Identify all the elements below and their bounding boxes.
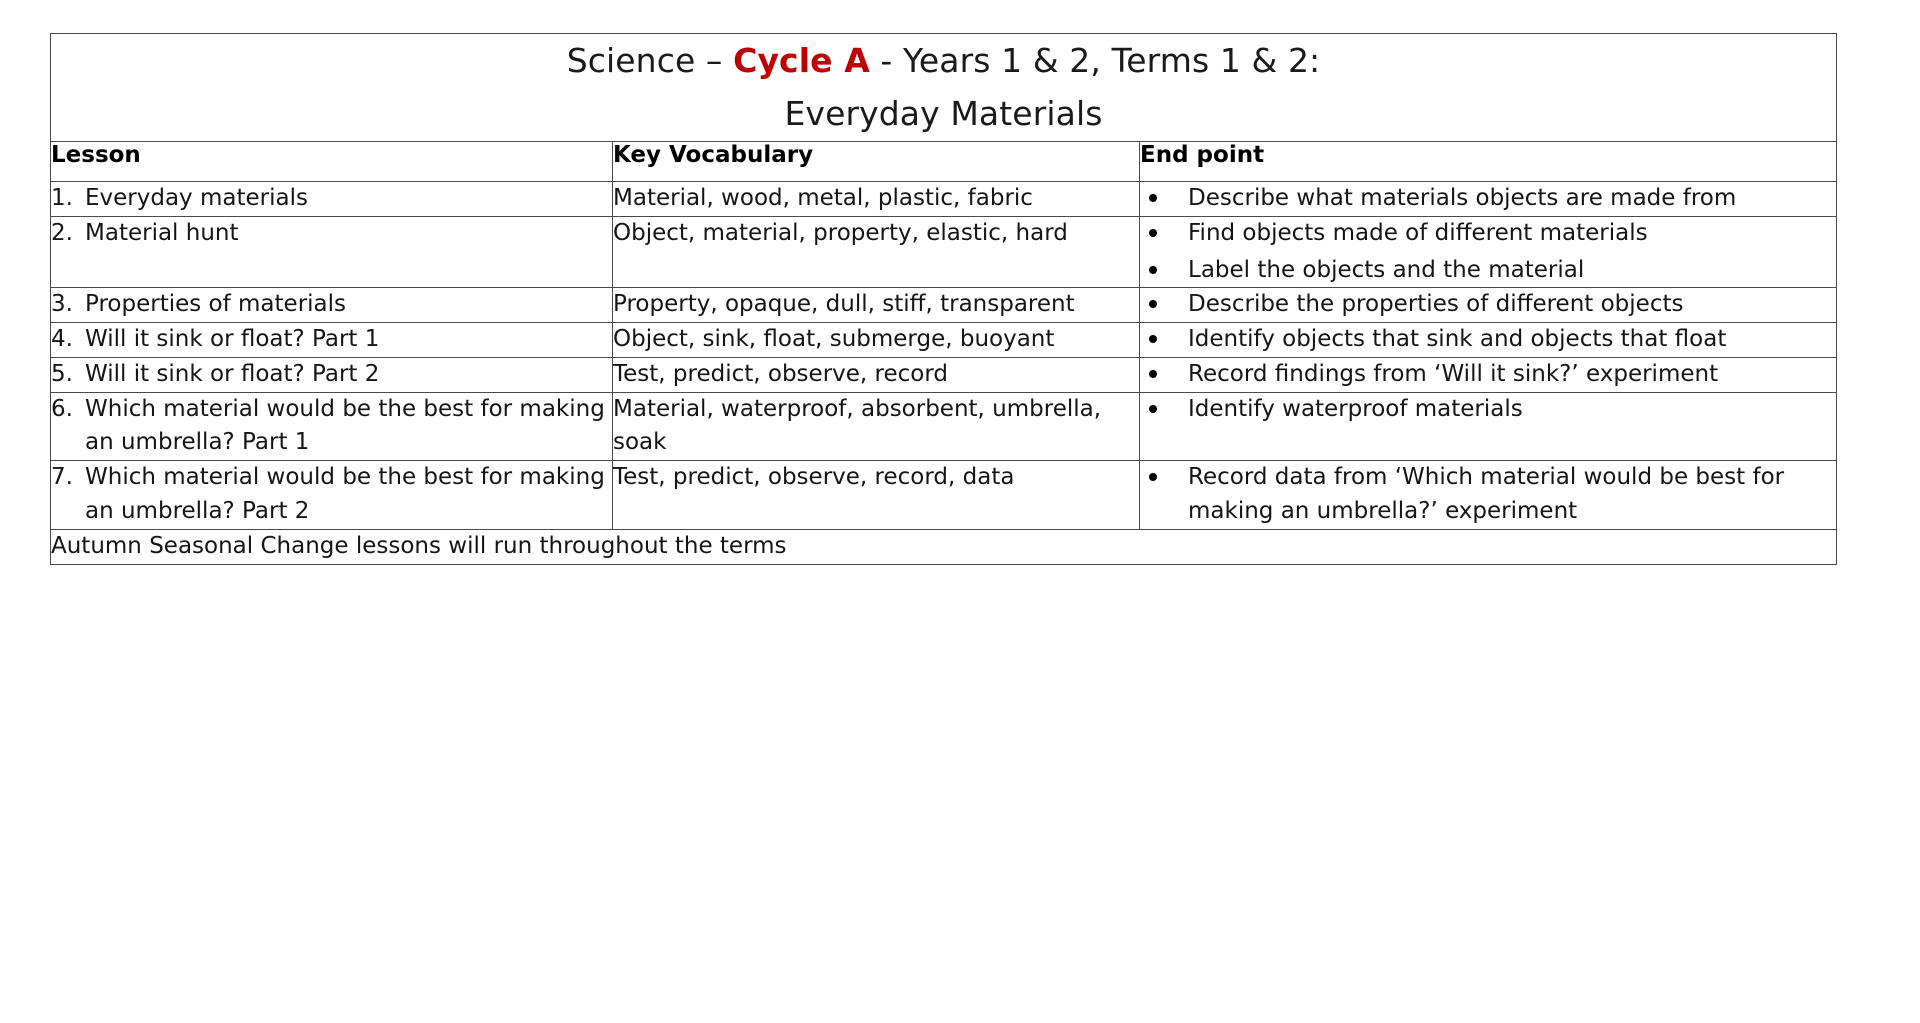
lesson-cell: 4. Will it sink or float? Part 1 (51, 323, 613, 358)
endpoint-cell: Describe the properties of different obj… (1140, 288, 1837, 323)
title-line-2: Everyday Materials (51, 87, 1836, 140)
endpoint-list: Identify objects that sink and objects t… (1140, 323, 1836, 357)
lesson-cell: 2. Material hunt (51, 216, 613, 288)
table-row: 5. Will it sink or float? Part 2 Test, p… (51, 357, 1837, 392)
endpoint-text: Describe what materials objects are made… (1188, 185, 1736, 211)
endpoint-text: Record data from ‘Which material would b… (1188, 464, 1784, 524)
vocabulary-cell: Material, wood, metal, plastic, fabric (613, 181, 1140, 216)
title-years-terms: - Years 1 & 2, Terms 1 & 2: (870, 41, 1320, 80)
lesson-cell: 7. Which material would be the best for … (51, 461, 613, 530)
lesson-title: Everyday materials (85, 182, 612, 216)
lesson-cell: 1. Everyday materials (51, 181, 613, 216)
list-item: Describe what materials objects are made… (1140, 182, 1836, 216)
endpoint-text: Describe the properties of different obj… (1188, 291, 1683, 317)
bullet-icon (1149, 335, 1157, 343)
table-row: 6. Which material would be the best for … (51, 392, 1837, 461)
title-cycle: Cycle A (733, 41, 870, 80)
endpoint-list: Describe the properties of different obj… (1140, 288, 1836, 322)
endpoint-text: Record findings from ‘Will it sink?’ exp… (1188, 361, 1718, 387)
lesson-number: 4. (51, 323, 85, 357)
list-item: Label the objects and the material (1140, 254, 1836, 288)
curriculum-overview-table: Science – Cycle A - Years 1 & 2, Terms 1… (50, 33, 1837, 565)
table-row: 4. Will it sink or float? Part 1 Object,… (51, 323, 1837, 358)
bullet-icon (1149, 370, 1157, 378)
endpoint-list: Describe what materials objects are made… (1140, 182, 1836, 216)
endpoint-text: Identify waterproof materials (1188, 396, 1523, 422)
lesson-cell: 6. Which material would be the best for … (51, 392, 613, 461)
column-header-key-vocabulary: Key Vocabulary (613, 141, 1140, 181)
lesson-cell: 3. Properties of materials (51, 288, 613, 323)
footer-note: Autumn Seasonal Change lessons will run … (51, 529, 1837, 564)
title-line-1: Science – Cycle A - Years 1 & 2, Terms 1… (51, 34, 1836, 87)
endpoint-cell: Find objects made of different materials… (1140, 216, 1837, 288)
table-row: 3. Properties of materials Property, opa… (51, 288, 1837, 323)
endpoint-cell: Record findings from ‘Will it sink?’ exp… (1140, 357, 1837, 392)
lesson-number: 1. (51, 182, 85, 216)
title-row: Science – Cycle A - Years 1 & 2, Terms 1… (51, 34, 1837, 142)
lesson-number: 3. (51, 288, 85, 322)
endpoint-text: Label the objects and the material (1188, 257, 1584, 283)
vocabulary-cell: Test, predict, observe, record (613, 357, 1140, 392)
endpoint-list: Record findings from ‘Will it sink?’ exp… (1140, 358, 1836, 392)
bullet-icon (1149, 405, 1157, 413)
endpoint-cell: Describe what materials objects are made… (1140, 181, 1837, 216)
vocabulary-cell: Object, material, property, elastic, har… (613, 216, 1140, 288)
table-row: 7. Which material would be the best for … (51, 461, 1837, 530)
bullet-icon (1149, 194, 1157, 202)
endpoint-list: Identify waterproof materials (1140, 393, 1836, 427)
endpoint-cell: Identify waterproof materials (1140, 392, 1837, 461)
lesson-title: Properties of materials (85, 288, 612, 322)
lesson-title: Will it sink or float? Part 2 (85, 358, 612, 392)
lesson-number: 2. (51, 217, 85, 251)
vocabulary-cell: Material, waterproof, absorbent, umbrell… (613, 392, 1140, 461)
column-header-lesson: Lesson (51, 141, 613, 181)
endpoint-list: Record data from ‘Which material would b… (1140, 461, 1836, 529)
bullet-icon (1149, 266, 1157, 274)
lesson-title: Which material would be the best for mak… (85, 461, 612, 529)
list-item: Record data from ‘Which material would b… (1140, 461, 1836, 529)
lesson-title: Will it sink or float? Part 1 (85, 323, 612, 357)
table-row: 1. Everyday materials Material, wood, me… (51, 181, 1837, 216)
list-item: Record findings from ‘Will it sink?’ exp… (1140, 358, 1836, 392)
title-subject: Science – (567, 41, 733, 80)
lesson-title: Which material would be the best for mak… (85, 393, 612, 461)
endpoint-list: Find objects made of different materials… (1140, 217, 1836, 288)
vocabulary-cell: Object, sink, float, submerge, buoyant (613, 323, 1140, 358)
title-banner: Science – Cycle A - Years 1 & 2, Terms 1… (51, 34, 1837, 142)
table-row: 2. Material hunt Object, material, prope… (51, 216, 1837, 288)
list-item: Describe the properties of different obj… (1140, 288, 1836, 322)
column-header-row: Lesson Key Vocabulary End point (51, 141, 1837, 181)
bullet-icon (1149, 473, 1157, 481)
bullet-icon (1149, 300, 1157, 308)
endpoint-cell: Record data from ‘Which material would b… (1140, 461, 1837, 530)
bullet-icon (1149, 229, 1157, 237)
list-item: Identify waterproof materials (1140, 393, 1836, 427)
list-item: Identify objects that sink and objects t… (1140, 323, 1836, 357)
endpoint-text: Identify objects that sink and objects t… (1188, 326, 1726, 352)
list-item: Find objects made of different materials (1140, 217, 1836, 251)
lesson-title: Material hunt (85, 217, 612, 251)
footer-note-row: Autumn Seasonal Change lessons will run … (51, 529, 1837, 564)
endpoint-cell: Identify objects that sink and objects t… (1140, 323, 1837, 358)
endpoint-text: Find objects made of different materials (1188, 220, 1648, 246)
lesson-number: 7. (51, 461, 85, 495)
document-page: Science – Cycle A - Years 1 & 2, Terms 1… (0, 0, 1920, 1023)
lesson-number: 6. (51, 393, 85, 427)
lesson-number: 5. (51, 358, 85, 392)
lesson-cell: 5. Will it sink or float? Part 2 (51, 357, 613, 392)
vocabulary-cell: Property, opaque, dull, stiff, transpare… (613, 288, 1140, 323)
vocabulary-cell: Test, predict, observe, record, data (613, 461, 1140, 530)
column-header-end-point: End point (1140, 141, 1837, 181)
